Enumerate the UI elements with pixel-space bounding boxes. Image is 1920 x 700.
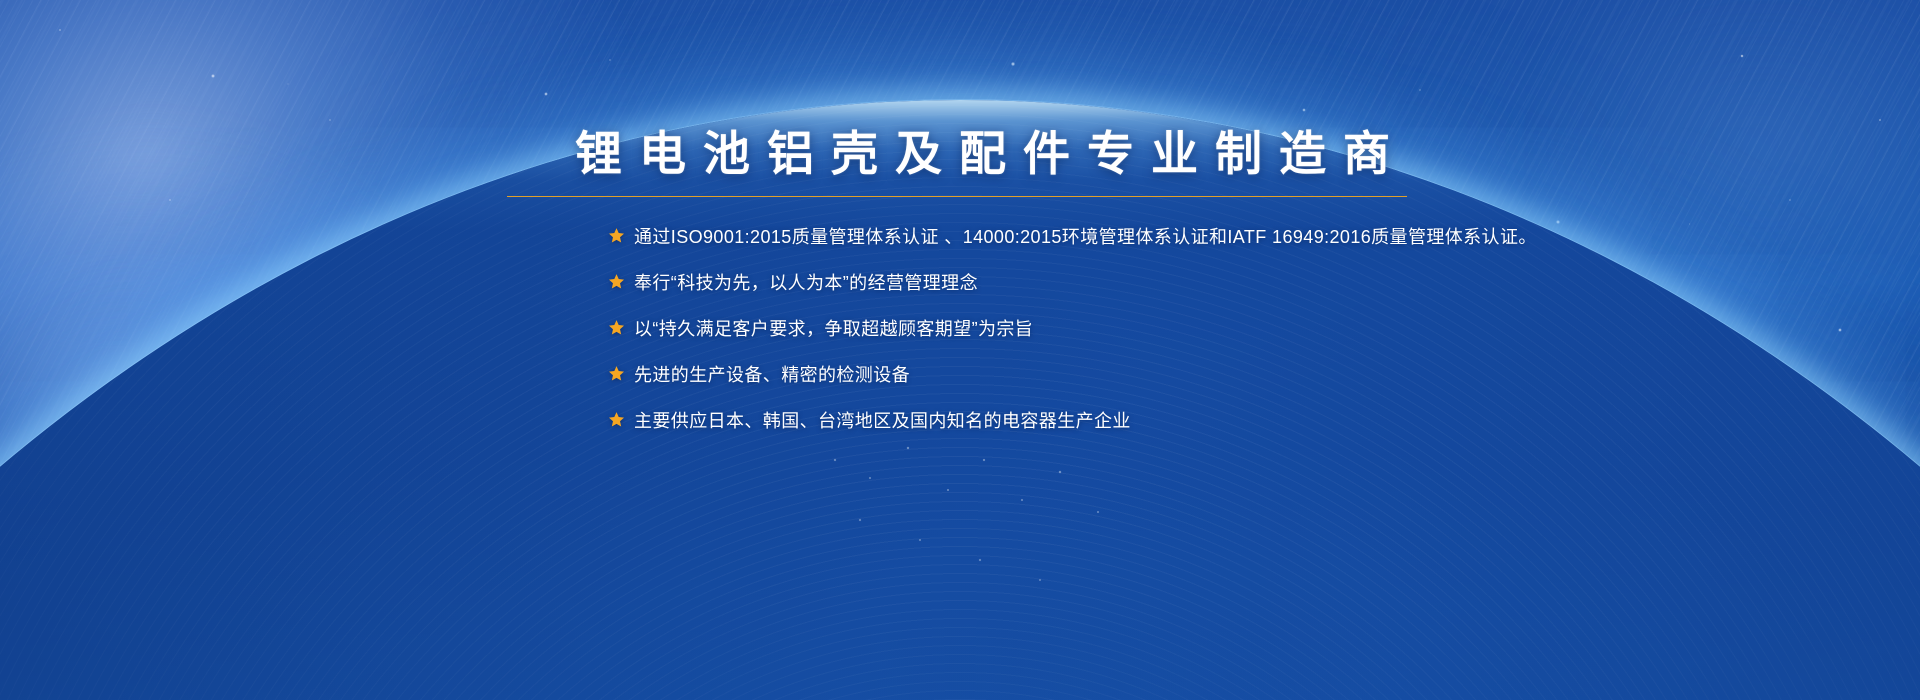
star-icon xyxy=(608,365,625,382)
banner-headline: 锂电池铝壳及配件专业制造商 xyxy=(575,126,1475,181)
headline-divider xyxy=(507,196,1407,197)
star-icon xyxy=(608,273,625,290)
list-item: 主要供应日本、韩国、台湾地区及国内知名的电容器生产企业 xyxy=(608,397,1475,443)
feature-list: 通过ISO9001:2015质量管理体系认证 、14000:2015环境管理体系… xyxy=(608,213,1475,443)
list-item-label: 以“持久满足客户要求，争取超越顾客期望”为宗旨 xyxy=(634,315,1033,341)
list-item: 通过ISO9001:2015质量管理体系认证 、14000:2015环境管理体系… xyxy=(608,213,1475,259)
hero-banner: 锂电池铝壳及配件专业制造商 通过ISO9001:2015质量管理体系认证 、14… xyxy=(0,0,1920,700)
list-item-label: 主要供应日本、韩国、台湾地区及国内知名的电容器生产企业 xyxy=(634,407,1131,433)
list-item: 先进的生产设备、精密的检测设备 xyxy=(608,351,1475,397)
star-icon xyxy=(608,411,625,428)
banner-content: 锂电池铝壳及配件专业制造商 通过ISO9001:2015质量管理体系认证 、14… xyxy=(575,126,1475,443)
star-icon xyxy=(608,227,625,244)
list-item: 以“持久满足客户要求，争取超越顾客期望”为宗旨 xyxy=(608,305,1475,351)
list-item-label: 通过ISO9001:2015质量管理体系认证 、14000:2015环境管理体系… xyxy=(634,223,1537,249)
star-icon xyxy=(608,319,625,336)
list-item: 奉行“科技为先，以人为本”的经营管理理念 xyxy=(608,259,1475,305)
list-item-label: 奉行“科技为先，以人为本”的经营管理理念 xyxy=(634,269,978,295)
list-item-label: 先进的生产设备、精密的检测设备 xyxy=(634,361,910,387)
